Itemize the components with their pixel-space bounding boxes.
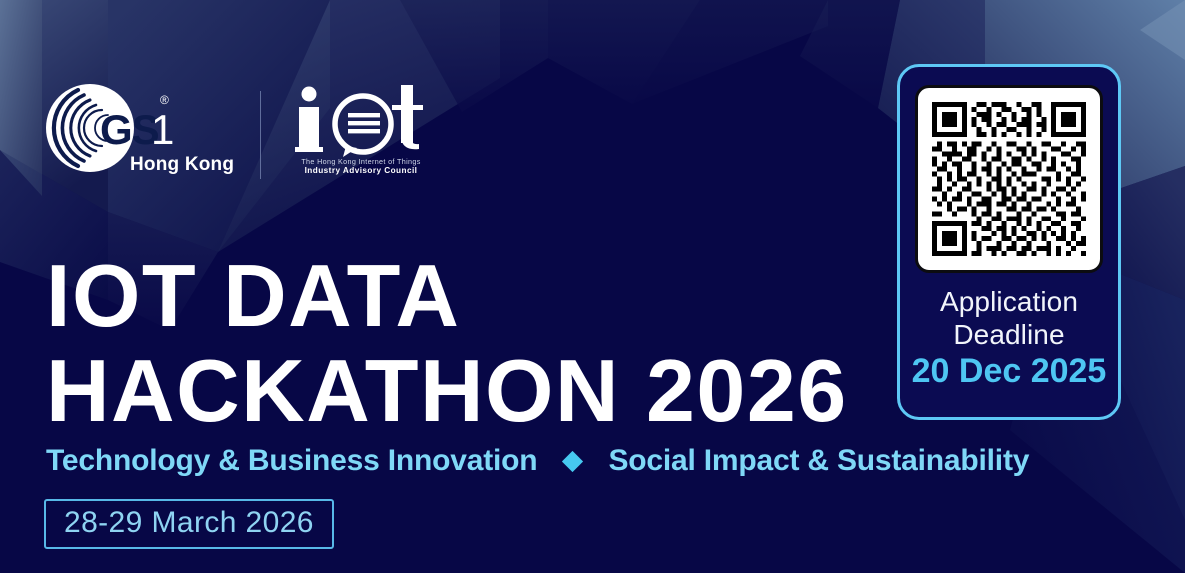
registered-mark-icon: ® <box>160 93 169 107</box>
iot-council-logo: The Hong Kong Internet of Things Industr… <box>293 85 429 185</box>
svg-text:1: 1 <box>151 106 174 153</box>
iot-council-caption: The Hong Kong Internet of Things Industr… <box>293 158 429 176</box>
event-headline: IOT DATA HACKATHON 2026 <box>46 252 848 434</box>
headline-line2: HACKATHON 2026 <box>46 347 848 434</box>
iot-caption-line2: Industry Advisory Council <box>293 166 429 176</box>
iot-speech-bubble-icon <box>293 85 429 157</box>
application-deadline-date: 20 Dec 2025 <box>912 353 1107 390</box>
gs1-region-label: Hong Kong <box>130 154 234 176</box>
event-subtitle: Technology & Business Innovation Social … <box>46 444 1029 478</box>
application-deadline-label: Application Deadline <box>940 285 1078 351</box>
deadline-line1: Application <box>940 285 1078 318</box>
subtitle-phrase-social-impact: Social Impact & Sustainability <box>608 444 1029 478</box>
deadline-line2: Deadline <box>940 318 1078 351</box>
logo-row: GS 1 ® Hong Kong <box>44 82 429 187</box>
qr-code-icon[interactable] <box>915 85 1103 273</box>
gs1-hong-kong-logo: GS 1 ® Hong Kong <box>44 82 234 187</box>
iot-caption-line1: The Hong Kong Internet of Things <box>293 158 429 166</box>
logo-divider <box>260 91 261 179</box>
subtitle-phrase-technology: Technology & Business Innovation <box>46 444 537 478</box>
application-deadline-panel[interactable]: Application Deadline 20 Dec 2025 <box>897 64 1121 420</box>
event-date-badge: 28-29 March 2026 <box>44 499 334 549</box>
headline-line1: IOT DATA <box>46 252 848 339</box>
diamond-separator-icon <box>562 450 583 471</box>
event-banner: GS 1 ® Hong Kong <box>0 0 1185 573</box>
svg-text:GS: GS <box>100 106 159 153</box>
